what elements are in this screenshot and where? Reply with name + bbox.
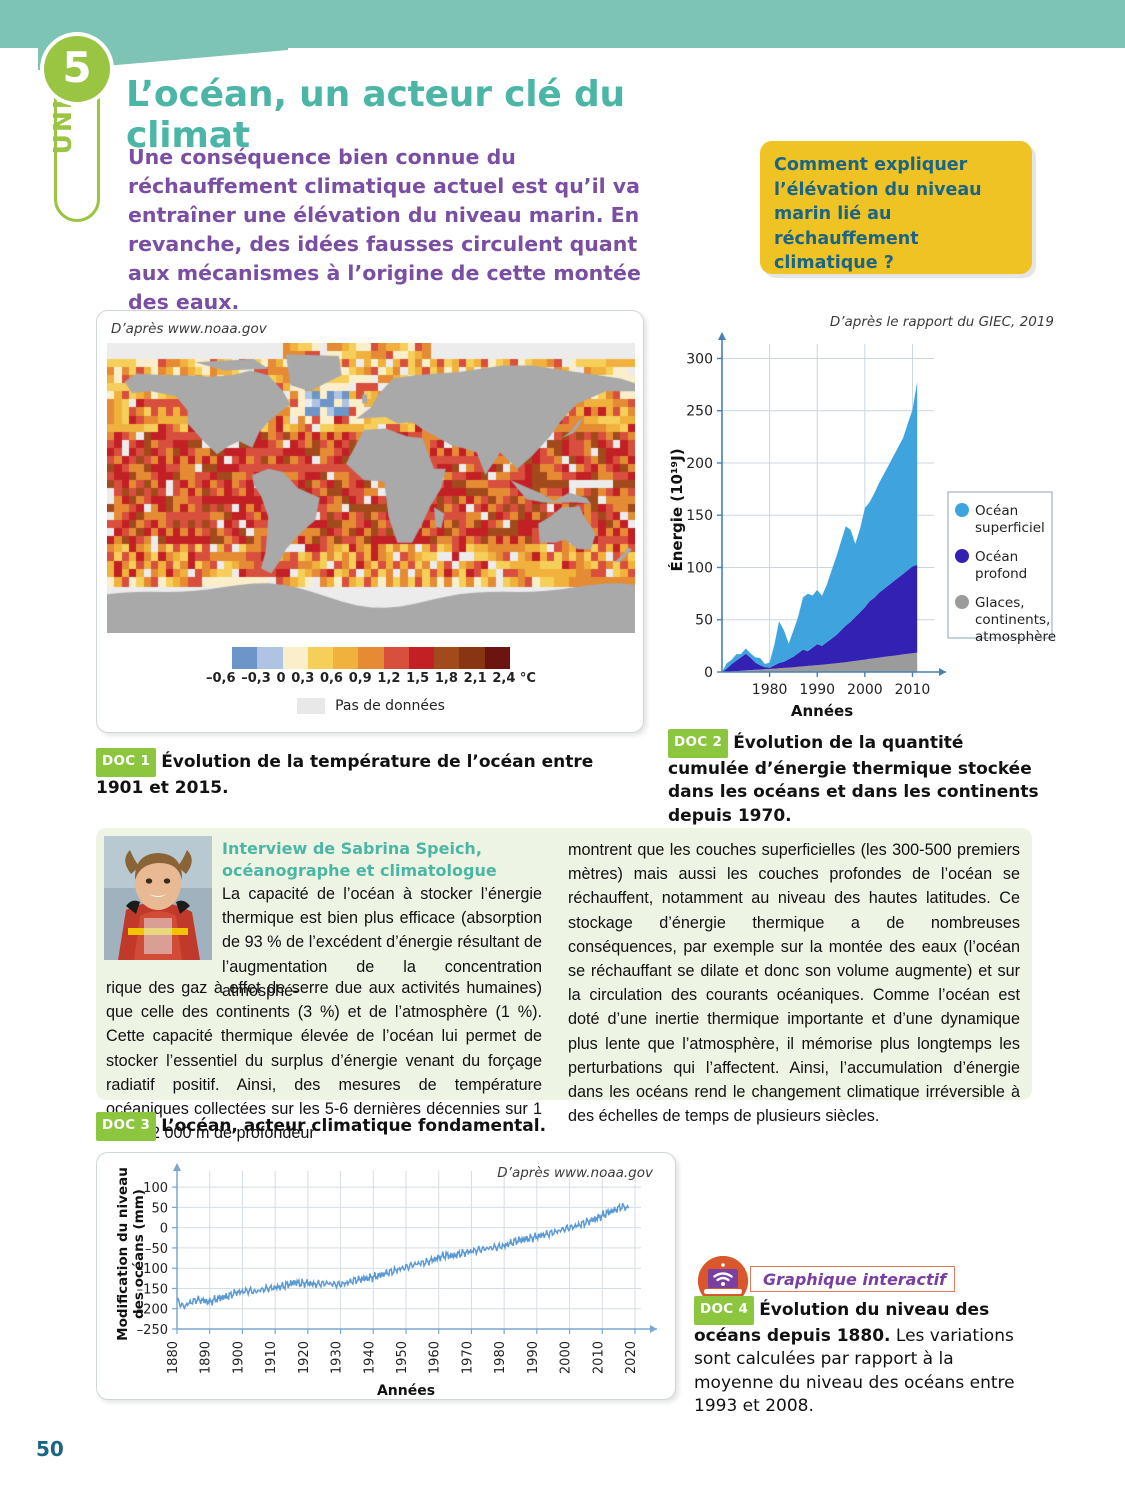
question-box: Comment expliquer l’élévation du niveau …	[760, 141, 1032, 274]
no-data-legend: Pas de données	[246, 698, 496, 714]
ylabel-50: 50	[695, 613, 713, 629]
xlabel-1920: 1920	[297, 1341, 312, 1374]
xlabel-1900: 1900	[231, 1341, 246, 1374]
interactive-graph-label[interactable]: Graphique interactif	[750, 1266, 955, 1292]
header-teal-band	[0, 0, 1125, 48]
axis-title-y-line0: Modification du niveau	[115, 1167, 131, 1341]
xlabel-1950: 1950	[395, 1341, 410, 1374]
legend-label-2: continents,	[975, 612, 1050, 628]
unit-badge: UNITÉ 5	[40, 32, 112, 222]
xlabel-2020: 2020	[624, 1341, 639, 1374]
legend-dot-1	[955, 549, 969, 563]
xlabel-2000: 2000	[847, 682, 883, 698]
ylabel-200: 200	[686, 456, 713, 472]
xlabel-1990: 1990	[526, 1341, 541, 1374]
legend-label-0: Océan	[975, 503, 1018, 519]
colorbar-swatch-0	[232, 647, 257, 669]
axis-y-arrow	[173, 1163, 181, 1171]
colorbar-tick-0: –0,6	[206, 671, 236, 686]
colorbar-tick-4: 0,6	[320, 671, 343, 686]
xlabel-1980: 1980	[752, 682, 788, 698]
doc1-chip: DOC 1	[96, 748, 156, 777]
colorbar-swatch-1	[257, 647, 282, 669]
axis-x-arrow	[650, 1325, 657, 1333]
interview-paragraph-part3: montrent que les couches superficielles …	[568, 838, 1020, 1128]
portrait-illustration	[104, 836, 212, 960]
colorbar-tick-5: 0,9	[349, 671, 372, 686]
doc2-chip: DOC 2	[668, 729, 728, 758]
doc1-map-card: D’après www.noaa.gov –0,6–0,300,30,60,91…	[96, 310, 644, 733]
xlabel-1990: 1990	[799, 682, 835, 698]
doc4-chip: DOC 4	[694, 1296, 754, 1325]
colorbar-tick-2: 0	[276, 671, 285, 686]
colorbar-tick-9: 2,1	[464, 671, 487, 686]
page-number: 50	[36, 1437, 64, 1461]
xlabel-1880: 1880	[166, 1341, 181, 1374]
doc4-source: D’après www.noaa.gov	[497, 1165, 653, 1181]
doc1-caption-text: Évolution de la température de l’océan e…	[96, 752, 593, 798]
colorbar-swatch-3	[308, 647, 333, 669]
legend-label-1: profond	[975, 566, 1027, 582]
ocean-temperature-map	[107, 343, 635, 633]
intro-paragraph: Une conséquence bien connue du réchauffe…	[128, 143, 668, 317]
xlabel-2010: 2010	[895, 682, 931, 698]
axis-title-y-line1: des océans (mm)	[131, 1189, 147, 1319]
doc1-source: D’après www.noaa.gov	[111, 321, 267, 337]
ylabel-50: 50	[151, 1201, 168, 1216]
axis-x-arrow	[939, 668, 946, 676]
doc2-caption: DOC 2Évolution de la quantité cumulée d’…	[668, 729, 1048, 828]
legend-label-1: Océan	[975, 549, 1018, 565]
ylabel--50: –50	[145, 1242, 168, 1257]
ylabel-0: 0	[704, 665, 713, 681]
ylabel-150: 150	[686, 508, 713, 524]
axis-title-y: Énergie (10¹⁹J)	[667, 448, 686, 571]
xlabel-1930: 1930	[330, 1341, 345, 1374]
colorbar-tick-1: –0,3	[241, 671, 271, 686]
doc3-caption-text: L’océan, acteur climatique fondamental.	[161, 1116, 546, 1136]
xlabel-1970: 1970	[460, 1341, 475, 1374]
xlabel-1940: 1940	[362, 1341, 377, 1374]
colorbar-tick-10: 2,4 °C	[492, 671, 536, 686]
xlabel-1890: 1890	[199, 1341, 214, 1374]
legend-dot-2	[955, 595, 969, 609]
colorbar-swatch-10	[485, 647, 510, 669]
colorbar-tick-6: 1,2	[377, 671, 400, 686]
sealevel-line	[177, 1203, 629, 1308]
colorbar-swatch-6	[384, 647, 409, 669]
unit-number: 5	[44, 36, 110, 102]
ylabel-0: 0	[160, 1222, 168, 1237]
colorbar-tick-8: 1,8	[435, 671, 458, 686]
doc2-plot-svg: 0501001502002503001980199020002010Années…	[664, 332, 1060, 730]
colorbar-swatch-2	[283, 647, 308, 669]
xlabel-2000: 2000	[559, 1341, 574, 1374]
xlabel-1980: 1980	[493, 1341, 508, 1374]
doc1-colorbar: –0,6–0,300,30,60,91,21,51,82,12,4 °C Pas…	[97, 647, 645, 714]
xlabel-1960: 1960	[428, 1341, 443, 1374]
doc4-plot-svg: –250–200–150–100–50050100188018901900191…	[97, 1153, 677, 1401]
doc1-caption: DOC 1Évolution de la température de l’oc…	[96, 748, 616, 800]
legend-dot-0	[955, 503, 969, 517]
no-data-label: Pas de données	[335, 698, 445, 714]
no-data-swatch	[297, 698, 325, 714]
ylabel-250: 250	[686, 404, 713, 420]
doc2-energy-chart: D’après le rapport du GIEC, 2019 0501001…	[664, 310, 1060, 730]
colorbar-swatch-5	[358, 647, 383, 669]
colorbar-swatch-7	[409, 647, 434, 669]
doc2-source: D’après le rapport du GIEC, 2019	[830, 314, 1054, 330]
xlabel-1910: 1910	[264, 1341, 279, 1374]
colorbar-swatch-8	[434, 647, 459, 669]
legend-label-2: atmosphère	[975, 629, 1056, 645]
ylabel--250: –250	[137, 1323, 168, 1338]
ylabel-300: 300	[686, 351, 713, 367]
legend-label-2: Glaces,	[975, 595, 1025, 611]
ylabel-100: 100	[686, 560, 713, 576]
colorbar-swatches	[232, 647, 510, 669]
avatar-sabrina-speich	[104, 836, 212, 960]
interview-heading: Interview de Sabrina Speich, océanograph…	[222, 838, 542, 882]
axis-y-arrow	[718, 332, 726, 340]
axis-title-x: Années	[377, 1383, 435, 1399]
axis-title-x: Années	[791, 702, 853, 720]
question-text: Comment expliquer l’élévation du niveau …	[774, 153, 1022, 276]
legend-label-0: superficiel	[975, 520, 1045, 536]
colorbar-swatch-9	[459, 647, 484, 669]
doc4-caption: DOC 4Évolution du niveau des océans depu…	[694, 1296, 1034, 1419]
doc4-sealevel-card: –250–200–150–100–50050100188018901900191…	[96, 1152, 676, 1400]
doc3-caption: DOC 3L’océan, acteur climatique fondamen…	[96, 1112, 656, 1141]
colorbar-tick-labels: –0,6–0,300,30,60,91,21,51,82,12,4 °C	[206, 671, 536, 686]
colorbar-tick-3: 0,3	[291, 671, 314, 686]
xlabel-2010: 2010	[591, 1341, 606, 1374]
doc3-chip: DOC 3	[96, 1112, 156, 1141]
colorbar-swatch-4	[333, 647, 358, 669]
doc3-interview-box: Interview de Sabrina Speich, océanograph…	[96, 828, 1032, 1100]
colorbar-tick-7: 1,5	[406, 671, 429, 686]
